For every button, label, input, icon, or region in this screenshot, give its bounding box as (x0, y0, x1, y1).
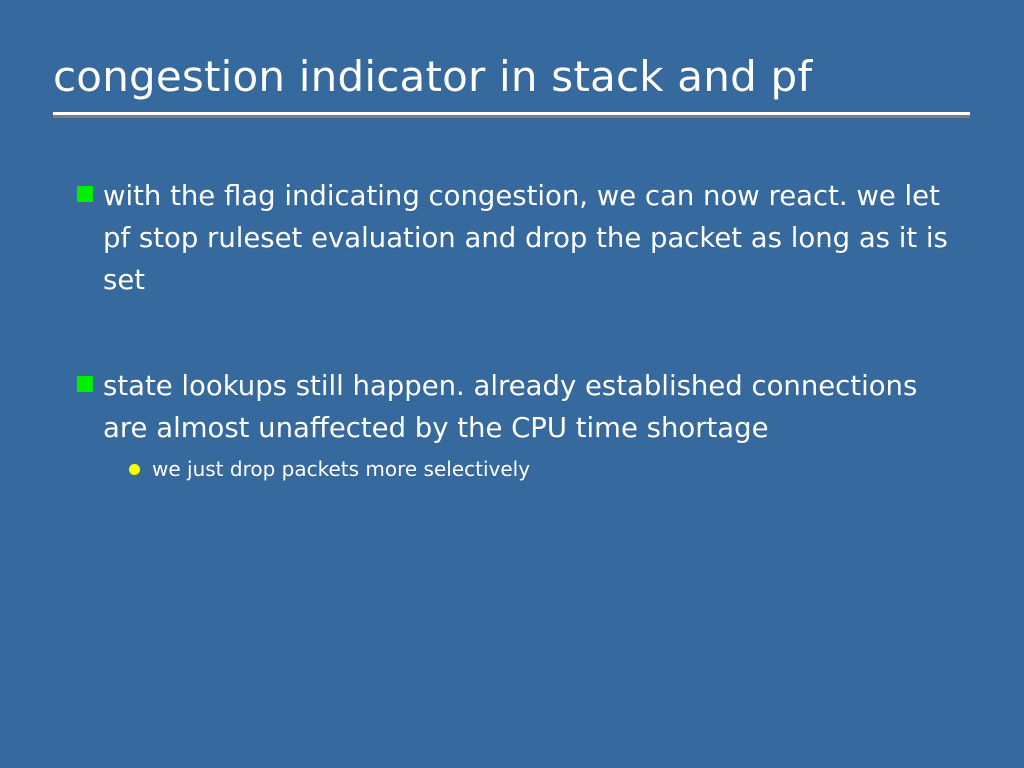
bullet-spacer (76, 347, 976, 365)
bullet-item-2-label: state lookups still happen. already esta… (103, 365, 965, 449)
slide-title-block: congestion indicator in stack and pf (53, 52, 973, 102)
green-square-bullet-icon (77, 376, 93, 392)
bullet-item-2: state lookups still happen. already esta… (76, 365, 965, 485)
yellow-dot-bullet-icon (129, 464, 140, 475)
sub-bullet-item-1: we just drop packets more selectively (127, 453, 965, 485)
sub-bullet-list: we just drop packets more selectively (103, 453, 965, 485)
green-square-bullet-icon (77, 186, 93, 202)
rule-shadow-line (53, 115, 970, 118)
page-title: congestion indicator in stack and pf (53, 52, 973, 102)
title-underline-rule (53, 112, 970, 118)
sub-bullet-item-1-label: we just drop packets more selectively (152, 457, 530, 481)
presentation-slide: congestion indicator in stack and pf wit… (0, 0, 1024, 768)
bullet-item-1-label: with the flag indicating congestion, we … (103, 175, 965, 301)
slide-body: with the flag indicating congestion, we … (76, 175, 976, 485)
bullet-item-1: with the flag indicating congestion, we … (76, 175, 965, 301)
